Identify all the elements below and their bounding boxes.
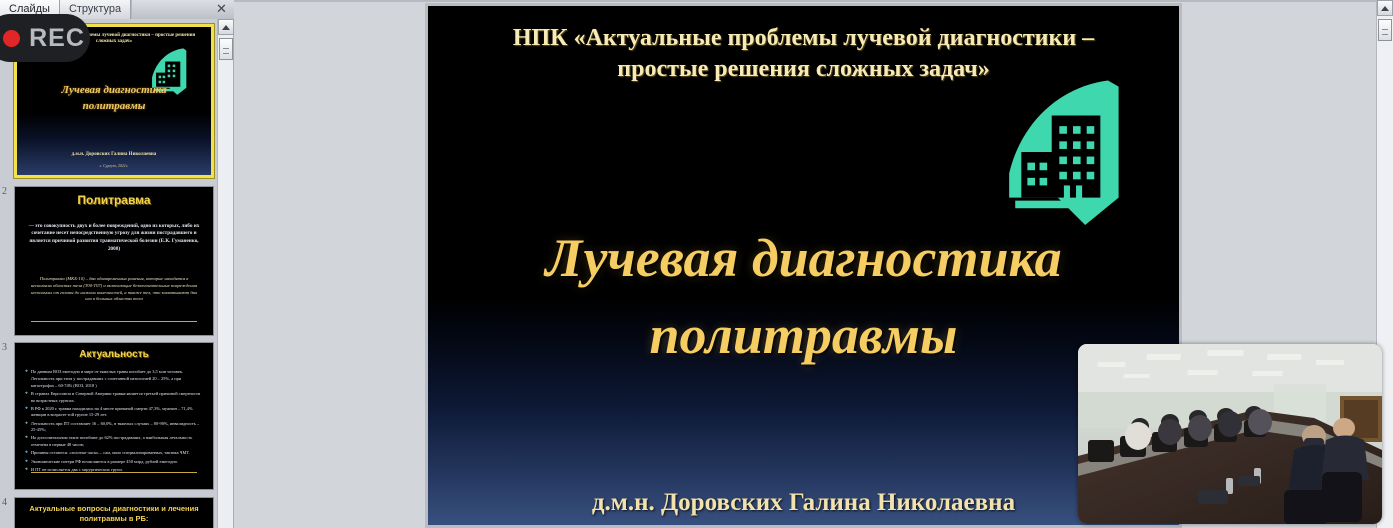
close-icon[interactable]: ✕	[215, 2, 228, 16]
mini-body-text: — это совокупность двух и более поврежде…	[27, 223, 201, 254]
conference-room-image	[1078, 344, 1382, 524]
thumbnail-list[interactable]: 1 НПК «Актуальные проблемы лучевой диагн…	[0, 19, 218, 528]
mini-author-text: д.м.н. Доровских Галина Николаевна	[27, 152, 202, 157]
thumbnail-slide-4[interactable]: Актуальные вопросы диагностики и лечения…	[14, 497, 214, 528]
list-item: Экономические потери РФ исчисляются в ра…	[25, 459, 205, 466]
slide-author-text: д.м.н. Доровских Галина Николаевна	[458, 489, 1149, 517]
thumbnail-number: 4	[2, 497, 7, 508]
list-item: Летальность при ПТ составляет 16 – 60,0%…	[25, 421, 205, 434]
scroll-up-icon[interactable]	[1377, 0, 1393, 16]
list-item[interactable]: 3 Актуальность По данным ВОЗ ежегодно в …	[0, 340, 218, 495]
mini-title-text: Лучевая диагностика политравмы	[27, 83, 202, 115]
thumbnail-number: 3	[2, 342, 7, 353]
list-item: В странах Евросоюза и Северной Америки т…	[25, 391, 205, 404]
webcam-video[interactable]	[1078, 344, 1382, 524]
slides-outline-panel: Слайды Структура ✕ 1 НПК «Актуальные про…	[0, 0, 234, 528]
scrollbar-thumb[interactable]	[219, 38, 233, 60]
workspace-top-divider	[234, 0, 1393, 2]
mini-slide-body: Актуальность По данным ВОЗ ежегодно в ми…	[15, 343, 213, 489]
list-item[interactable]: 2 Политравма — это совокупность двух и б…	[0, 184, 218, 340]
record-dot-icon	[3, 30, 20, 47]
thumbnail-number: 2	[2, 186, 7, 197]
hospital-building-emblem-icon	[990, 76, 1156, 228]
mini-heading-text: Актуальные вопросы диагностики и лечения…	[27, 504, 201, 524]
scroll-up-icon[interactable]	[218, 19, 234, 35]
recording-indicator: REC	[0, 14, 90, 62]
thumbnail-slide-2[interactable]: Политравма — это совокупность двух и бол…	[14, 186, 214, 336]
current-slide[interactable]: НПК «Актуальные проблемы лучевой диагнос…	[428, 6, 1179, 525]
list-item: На догоспитальном этапе погибают до 62% …	[25, 435, 205, 448]
slide-canvas-frame: НПК «Актуальные проблемы лучевой диагнос…	[425, 3, 1182, 528]
list-item: В РФ к 2020 г. травма находилась на 4 ме…	[25, 406, 205, 419]
screen-share-window: Слайды Структура ✕ 1 НПК «Актуальные про…	[0, 0, 1393, 528]
mini-heading-text: Политравма	[23, 193, 205, 207]
mini-subtitle-text: г. Сургут, 2021г.	[27, 163, 202, 168]
thumbnail-slide-3[interactable]: Актуальность По данным ВОЗ ежегодно в ми…	[14, 342, 214, 490]
list-item[interactable]: 4 Актуальные вопросы диагностики и лечен…	[0, 495, 218, 528]
mini-bullet-list: По данным ВОЗ ежегодно в мире от тяжелых…	[25, 369, 205, 475]
panel-scrollbar[interactable]	[217, 19, 233, 528]
mini-divider	[31, 321, 197, 322]
list-item: По данным ВОЗ ежегодно в мире от тяжелых…	[25, 369, 205, 389]
mini-divider	[31, 472, 197, 473]
list-item: Причины остаются: «золотые часы» – сам, …	[25, 450, 205, 457]
mini-body-italic-text: Политравма (МКБ-10) – два одновременных …	[29, 276, 199, 304]
page-title: Лучевая диагностика политравмы	[458, 220, 1149, 373]
mini-slide-body: Политравма — это совокупность двух и бол…	[15, 187, 213, 335]
mini-slide-body: Актуальные вопросы диагностики и лечения…	[15, 498, 213, 528]
scrollbar-thumb[interactable]	[1378, 19, 1392, 41]
mini-heading-text: Актуальность	[23, 349, 205, 360]
recording-label: REC	[29, 24, 85, 53]
tabstrip-filler: ✕	[131, 0, 234, 19]
